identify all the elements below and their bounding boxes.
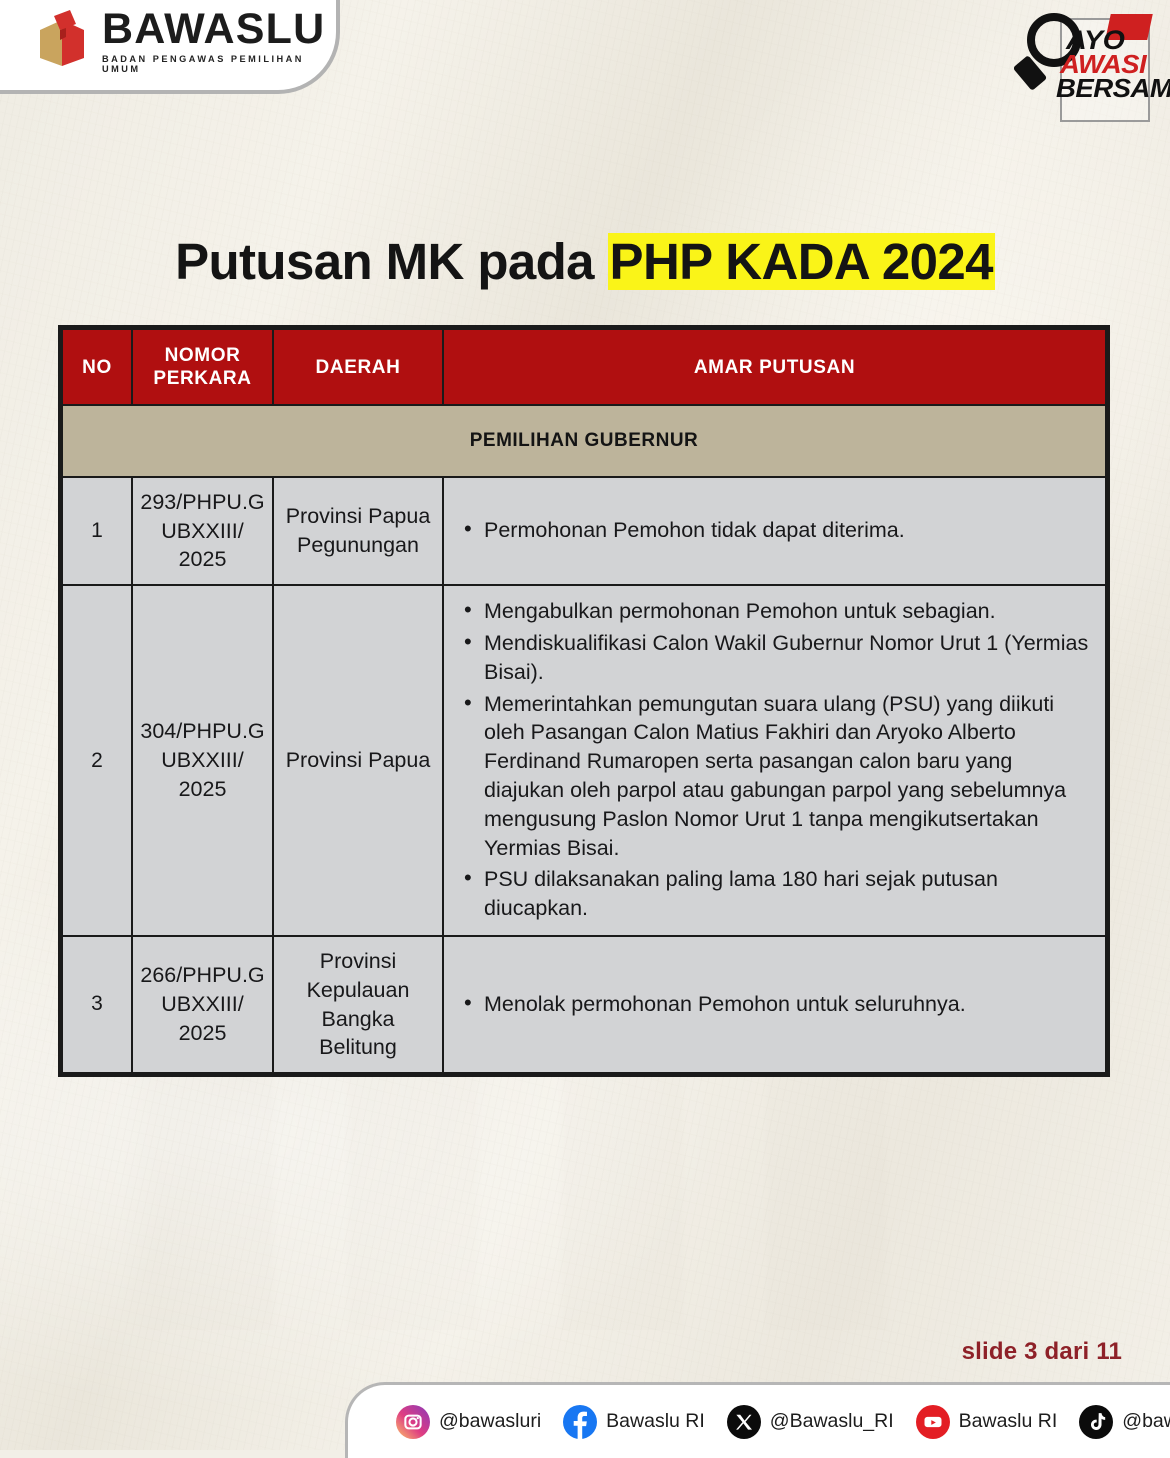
- bawaslu-ballot-box-icon: [36, 10, 90, 74]
- cell-no: 3: [62, 936, 132, 1073]
- column-header-daerah: DAERAH: [273, 329, 443, 405]
- table-row: 1293/PHPU.GUBXXIII/ 2025Provinsi Papua P…: [62, 477, 1106, 585]
- social-media-bar: @bawasluriBawaslu RI@Bawaslu_RIBawaslu R…: [345, 1382, 1170, 1458]
- badge-text-stack: AYO AWASI BERSAMA: [1056, 28, 1154, 101]
- nomor-perkara-line-2: UBXXIII/ 2025: [139, 746, 266, 804]
- social-handle: @Bawaslu_RI: [770, 1410, 894, 1433]
- x-twitter-icon: [727, 1405, 761, 1439]
- cell-no: 2: [62, 585, 132, 936]
- cell-daerah: Provinsi Kepulauan Bangka Belitung: [273, 936, 443, 1073]
- section-label: PEMILIHAN GUBERNUR: [62, 405, 1106, 476]
- amar-bullet-item: Mendiskualifikasi Calon Wakil Gubernur N…: [484, 628, 1089, 688]
- title-highlight-part: PHP KADA 2024: [608, 233, 995, 290]
- badge-line-bersama: BERSAMA: [1056, 77, 1170, 101]
- title-plain-part: Putusan MK pada: [175, 233, 607, 290]
- amar-bullet-item: Permohonan Pemohon tidak dapat diterima.: [484, 515, 1089, 546]
- nomor-perkara-line-2: UBXXIII/ 2025: [139, 990, 266, 1048]
- facebook-icon: [563, 1405, 597, 1439]
- nomor-perkara-line-1: 304/PHPU.G: [139, 717, 266, 746]
- bawaslu-logo-panel: BAWASLU BADAN PENGAWAS PEMILIHAN UMUM: [0, 0, 340, 94]
- cell-daerah: Provinsi Papua Pegunungan: [273, 477, 443, 585]
- nomor-perkara-line-1: 293/PHPU.G: [139, 488, 266, 517]
- column-header-nomor-perkara: NOMOR PERKARA: [132, 329, 273, 405]
- youtube-icon: [916, 1405, 950, 1439]
- social-handle: Bawaslu RI: [606, 1410, 705, 1433]
- cell-daerah: Provinsi Papua: [273, 585, 443, 936]
- cell-nomor-perkara: 304/PHPU.GUBXXIII/ 2025: [132, 585, 273, 936]
- section-row-pemilihan-gubernur: PEMILIHAN GUBERNUR: [62, 405, 1106, 476]
- amar-bullet-item: Menolak permohonan Pemohon untuk seluruh…: [484, 989, 1089, 1020]
- social-link-instagram[interactable]: @bawasluri: [396, 1405, 541, 1439]
- table-row: 3266/PHPU.GUBXXIII/ 2025Provinsi Kepulau…: [62, 936, 1106, 1073]
- amar-bullet-list: Permohonan Pemohon tidak dapat diterima.: [458, 515, 1089, 546]
- instagram-icon: [396, 1405, 430, 1439]
- cell-nomor-perkara: 293/PHPU.GUBXXIII/ 2025: [132, 477, 273, 585]
- social-link-youtube[interactable]: Bawaslu RI: [916, 1405, 1058, 1439]
- cell-amar-putusan: Permohonan Pemohon tidak dapat diterima.: [443, 477, 1106, 585]
- putusan-table-container: NO NOMOR PERKARA DAERAH AMAR PUTUSAN PEM…: [58, 325, 1110, 1077]
- table-header-row: NO NOMOR PERKARA DAERAH AMAR PUTUSAN: [62, 329, 1106, 405]
- amar-bullet-list: Mengabulkan permohonan Pemohon untuk seb…: [458, 596, 1089, 924]
- page-title: Putusan MK pada PHP KADA 2024: [0, 232, 1170, 291]
- amar-bullet-list: Menolak permohonan Pemohon untuk seluruh…: [458, 989, 1089, 1020]
- social-handle: Bawaslu RI: [959, 1410, 1058, 1433]
- social-link-facebook[interactable]: Bawaslu RI: [563, 1405, 705, 1439]
- nomor-perkara-line-2: UBXXIII/ 2025: [139, 517, 266, 575]
- cell-amar-putusan: Mengabulkan permohonan Pemohon untuk seb…: [443, 585, 1106, 936]
- bawaslu-logo-text: BAWASLU BADAN PENGAWAS PEMILIHAN UMUM: [102, 9, 336, 74]
- tiktok-icon: [1079, 1405, 1113, 1439]
- social-link-x-twitter[interactable]: @Bawaslu_RI: [727, 1405, 894, 1439]
- amar-bullet-item: Mengabulkan permohonan Pemohon untuk seb…: [484, 596, 1089, 627]
- putusan-table: NO NOMOR PERKARA DAERAH AMAR PUTUSAN PEM…: [61, 328, 1107, 1074]
- social-link-tiktok[interactable]: @bawaslu_ri: [1079, 1405, 1170, 1439]
- cell-nomor-perkara: 266/PHPU.GUBXXIII/ 2025: [132, 936, 273, 1073]
- table-row: 2304/PHPU.GUBXXIII/ 2025Provinsi PapuaMe…: [62, 585, 1106, 936]
- cell-no: 1: [62, 477, 132, 585]
- social-handle: @bawaslu_ri: [1122, 1410, 1170, 1433]
- slide-counter: slide 3 dari 11: [962, 1338, 1122, 1366]
- cell-amar-putusan: Menolak permohonan Pemohon untuk seluruh…: [443, 936, 1106, 1073]
- column-header-no: NO: [62, 329, 132, 405]
- ayo-awasi-bersama-badge: AYO AWASI BERSAMA: [1012, 4, 1152, 130]
- bawaslu-wordmark: BAWASLU: [102, 9, 336, 50]
- table-body: PEMILIHAN GUBERNUR 1293/PHPU.GUBXXIII/ 2…: [62, 405, 1106, 1073]
- column-header-amar-putusan: AMAR PUTUSAN: [443, 329, 1106, 405]
- social-handle: @bawasluri: [439, 1410, 541, 1433]
- amar-bullet-item: PSU dilaksanakan paling lama 180 hari se…: [484, 864, 1089, 924]
- bawaslu-tagline: BADAN PENGAWAS PEMILIHAN UMUM: [102, 54, 336, 74]
- nomor-perkara-line-1: 266/PHPU.G: [139, 961, 266, 990]
- table-head: NO NOMOR PERKARA DAERAH AMAR PUTUSAN: [62, 329, 1106, 405]
- amar-bullet-item: Memerintahkan pemungutan suara ulang (PS…: [484, 689, 1089, 864]
